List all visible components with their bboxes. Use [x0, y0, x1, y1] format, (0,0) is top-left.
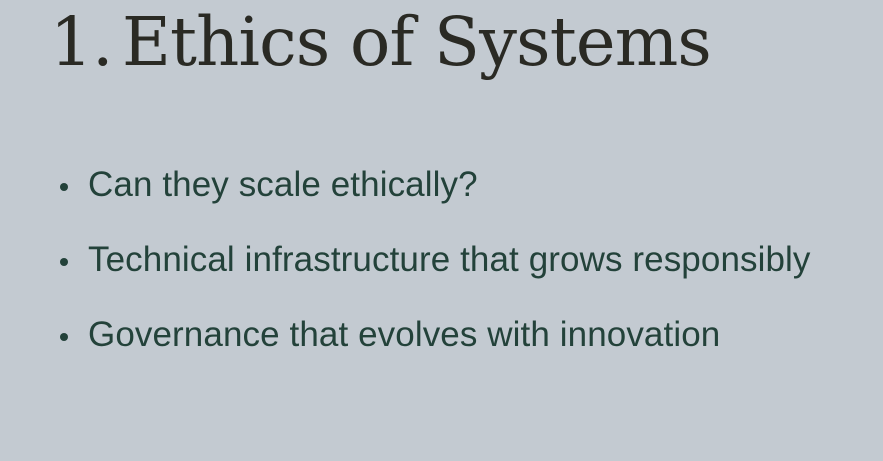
- bullet-dot-icon: [60, 258, 68, 266]
- bullet-list: Can they scale ethically? Technical infr…: [52, 155, 842, 366]
- title-text: Ethics of Systems: [122, 8, 711, 76]
- list-item-label: Governance that evolves with innovation: [88, 305, 842, 365]
- list-item: Technical infrastructure that grows resp…: [52, 230, 842, 290]
- title-number: 1.: [50, 8, 113, 76]
- slide-canvas: 1. Ethics of Systems Can they scale ethi…: [0, 0, 883, 461]
- list-item-label: Can they scale ethically?: [88, 155, 842, 215]
- list-item: Governance that evolves with innovation: [52, 305, 842, 365]
- list-item-label: Technical infrastructure that grows resp…: [88, 230, 842, 290]
- bullet-dot-icon: [60, 183, 68, 191]
- bullet-dot-icon: [60, 333, 68, 341]
- page-title: 1. Ethics of Systems: [50, 8, 850, 76]
- list-item: Can they scale ethically?: [52, 155, 842, 215]
